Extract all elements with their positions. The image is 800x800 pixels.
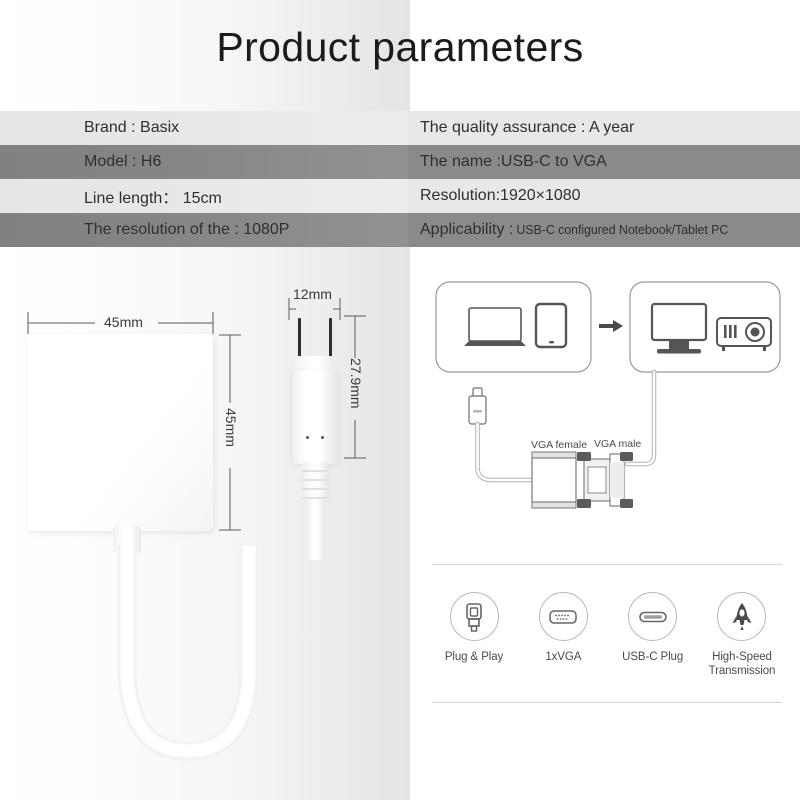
table-row: Brand : Basix The quality assurance : A … (0, 111, 800, 145)
dimension-lines (0, 258, 410, 800)
table-row: The resolution of the : 1080P Applicabil… (0, 213, 800, 247)
dimension-plug-width-label: 12mm (293, 286, 332, 302)
plug-icon (461, 602, 487, 632)
usage-diagram-panel: VGA female VGA male Plug & Play (414, 262, 800, 800)
table-row: Model : H6 The name :USB-C to VGA (0, 145, 800, 179)
feature-high-speed: High-Speed Transmission (700, 592, 784, 679)
dimension-plug-height-label: 27.9mm (348, 358, 364, 409)
cable-to-display (627, 372, 654, 464)
vga-male-label: VGA male (594, 438, 641, 450)
arrow-right-icon (599, 320, 623, 332)
divider-top (432, 564, 782, 565)
vga-port-icon (548, 607, 578, 627)
vga-female-label: VGA female (531, 439, 587, 451)
feature-usb-c-plug: USB-C Plug (611, 592, 695, 679)
vga-male-connector (577, 452, 633, 508)
product-photo: 45mm 45mm 12mm 27.9mm (0, 258, 410, 800)
spec-applicability: Applicability : USB-C configured Noteboo… (408, 213, 800, 247)
source-device-box (436, 282, 591, 372)
vga-port-icon-circle (539, 592, 588, 641)
feature-plug-and-play: Plug & Play (432, 592, 516, 679)
plug-icon-circle (450, 592, 499, 641)
rocket-icon (730, 602, 754, 632)
cable-to-source (478, 424, 533, 480)
spec-applicability-value: USB-C configured Notebook/Tablet PC (516, 223, 728, 237)
feature-vga-count: 1xVGA (521, 592, 605, 679)
rocket-icon-circle (717, 592, 766, 641)
feature-list: Plug & Play 1xVGA (432, 592, 784, 679)
spec-resolution: Resolution:1920×1080 (408, 179, 800, 213)
usb-c-port-icon (638, 609, 668, 625)
feature-label: USB-C Plug (622, 650, 683, 664)
spec-table: Brand : Basix The quality assurance : A … (0, 111, 800, 247)
spec-applicability-label: Applicability : (420, 221, 513, 239)
feature-label: Plug & Play (445, 650, 503, 664)
spec-line-length: Line length： 15cm (0, 179, 408, 213)
usb-c-port-icon-circle (628, 592, 677, 641)
usb-c-plug-icon (469, 388, 486, 424)
dimension-width-label: 45mm (104, 314, 143, 330)
feature-label: 1xVGA (545, 650, 581, 664)
feature-label: High-Speed Transmission (700, 650, 784, 679)
spec-name: The name :USB-C to VGA (408, 145, 800, 179)
divider-bottom (432, 702, 782, 703)
connection-diagram (414, 262, 800, 562)
spec-brand: Brand : Basix (0, 111, 408, 145)
table-row: Line length： 15cm Resolution:1920×1080 (0, 179, 800, 213)
spec-quality-assurance: The quality assurance : A year (408, 111, 800, 145)
laptop-base (464, 341, 526, 346)
spec-model: Model : H6 (0, 145, 408, 179)
page-title: Product parameters (0, 24, 800, 71)
dimension-height-label: 45mm (223, 408, 239, 447)
vga-female-connector (532, 452, 576, 508)
spec-output-resolution: The resolution of the : 1080P (0, 213, 408, 247)
